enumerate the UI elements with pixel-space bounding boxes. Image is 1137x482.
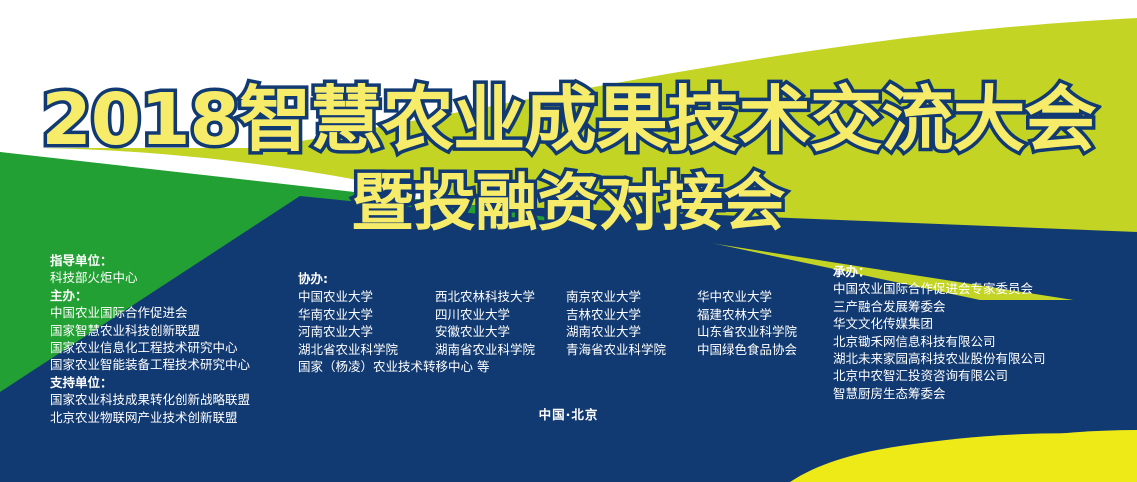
co-organizer-heading: 协办: bbox=[298, 270, 797, 287]
undertaker-item: 中国农业国际合作促进会专家委员会 bbox=[833, 280, 1046, 297]
co-organizer-item: 中国农业大学 bbox=[298, 288, 435, 305]
undertaker-column: 承办： 中国农业国际合作促进会专家委员会 三产融合发展筹委会 华文文化传媒集团 … bbox=[833, 263, 1046, 402]
co-organizer-item: 四川农业大学 bbox=[435, 306, 566, 323]
support-heading: 支持单位： bbox=[50, 374, 250, 391]
co-organizer-item: 吉林农业大学 bbox=[566, 306, 697, 323]
host-item: 国家农业智能装备工程技术研究中心 bbox=[50, 356, 250, 373]
co-organizer-column: 协办: 中国农业大学 西北农林科技大学 南京农业大学 华中农业大学 华南农业大学… bbox=[298, 270, 797, 375]
co-organizer-item: 河南农业大学 bbox=[298, 323, 435, 340]
undertaker-item: 华文文化传媒集团 bbox=[833, 315, 1046, 332]
co-organizer-item: 湖北省农业科学院 bbox=[298, 341, 435, 358]
co-organizer-item: 华南农业大学 bbox=[298, 306, 435, 323]
event-banner: 2018智慧农业成果技术交流大会 暨投融资对接会 指导单位： 科技部火炬中心 主… bbox=[0, 0, 1137, 482]
co-organizer-item: 安徽农业大学 bbox=[435, 323, 566, 340]
undertaker-item: 三产融合发展筹委会 bbox=[833, 298, 1046, 315]
undertaker-item: 北京锄禾网信息科技有限公司 bbox=[833, 333, 1046, 350]
co-organizer-item: 山东省农业科学院 bbox=[697, 323, 797, 340]
co-organizer-item: 华中农业大学 bbox=[697, 288, 797, 305]
undertaker-item: 北京中农智汇投资咨询有限公司 bbox=[833, 367, 1046, 384]
co-organizer-item: 青海省农业科学院 bbox=[566, 341, 697, 358]
guide-heading: 指导单位： bbox=[50, 252, 250, 269]
undertaker-item: 智慧厨房生态筹委会 bbox=[833, 385, 1046, 402]
undertaker-heading: 承办： bbox=[833, 263, 1046, 280]
event-location: 中国·北京 bbox=[0, 404, 1137, 423]
guide-item: 科技部火炬中心 bbox=[50, 269, 250, 286]
host-item: 国家智慧农业科技创新联盟 bbox=[50, 322, 250, 339]
host-item: 中国农业国际合作促进会 bbox=[50, 304, 250, 321]
host-item: 国家农业信息化工程技术研究中心 bbox=[50, 339, 250, 356]
co-organizer-item: 福建农林大学 bbox=[697, 306, 797, 323]
co-organizer-etc-line: 国家（杨凌）农业技术转移中心 等 bbox=[298, 358, 797, 375]
co-organizer-item: 湖南省农业科学院 bbox=[435, 341, 566, 358]
co-organizer-item: 中国绿色食品协会 bbox=[697, 341, 797, 358]
co-organizer-grid: 中国农业大学 西北农林科技大学 南京农业大学 华中农业大学 华南农业大学 四川农… bbox=[298, 288, 797, 358]
co-organizer-item: 湖南农业大学 bbox=[566, 323, 697, 340]
co-organizer-item: 南京农业大学 bbox=[566, 288, 697, 305]
co-organizer-item: 西北农林科技大学 bbox=[435, 288, 566, 305]
host-heading: 主办： bbox=[50, 287, 250, 304]
undertaker-item: 湖北未来家园高科技农业股份有限公司 bbox=[833, 350, 1046, 367]
organizer-column-left: 指导单位： 科技部火炬中心 主办： 中国农业国际合作促进会 国家智慧农业科技创新… bbox=[50, 252, 250, 426]
